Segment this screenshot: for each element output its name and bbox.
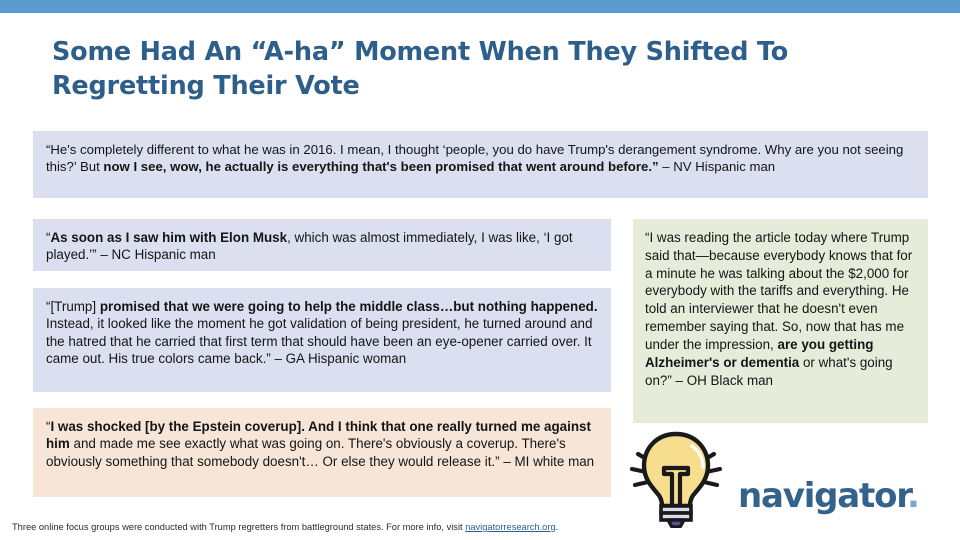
navigatorresearch-link[interactable]: navigatorresearch.org <box>465 522 555 532</box>
quote-attribution: and made me see exactly what was going o… <box>46 436 594 468</box>
quote-card-nc-hispanic-man: “As soon as I saw him with Elon Musk, wh… <box>33 219 611 271</box>
quote-text: “He's completely different to what he wa… <box>46 141 915 175</box>
quote-attribution: – NV Hispanic man <box>659 159 776 174</box>
quote-card-nv-hispanic-man: “He's completely different to what he wa… <box>33 131 928 198</box>
quote-lead: “[Trump] <box>46 299 100 314</box>
navigator-logo: navigator. <box>620 428 920 528</box>
navigator-wordmark: navigator. <box>738 476 919 516</box>
quote-card-oh-black-man: “I was reading the article today where T… <box>633 219 928 423</box>
footer-text-after: . <box>556 522 559 532</box>
footer-note: Three online focus groups were conducted… <box>12 522 558 532</box>
quote-emphasis: promised that we were going to help the … <box>100 299 598 314</box>
quote-emphasis: now I see, wow, he actually is everythin… <box>103 159 658 174</box>
quote-emphasis: As soon as I saw him with Elon Musk <box>50 230 287 245</box>
quote-text: “I was reading the article today where T… <box>645 229 916 389</box>
quote-card-ga-hispanic-woman: “[Trump] promised that we were going to … <box>33 288 611 392</box>
quote-text: “[Trump] promised that we were going to … <box>46 298 598 368</box>
quote-text: “I was shocked [by the Epstein coverup].… <box>46 418 598 470</box>
quote-text: “As soon as I saw him with Elon Musk, wh… <box>46 229 598 264</box>
quote-lead: “I was reading the article today where T… <box>645 230 912 352</box>
top-accent-bar <box>0 0 960 13</box>
lightbulb-icon <box>620 428 732 528</box>
footer-text-before: Three online focus groups were conducted… <box>12 522 465 532</box>
wordmark-dot: . <box>907 476 919 516</box>
wordmark-text: navigator <box>738 476 907 516</box>
quote-card-mi-white-man: “I was shocked [by the Epstein coverup].… <box>33 408 611 497</box>
quote-attribution: Instead, it looked like the moment he go… <box>46 316 592 366</box>
page-title: Some Had An “A-ha” Moment When They Shif… <box>52 36 852 103</box>
